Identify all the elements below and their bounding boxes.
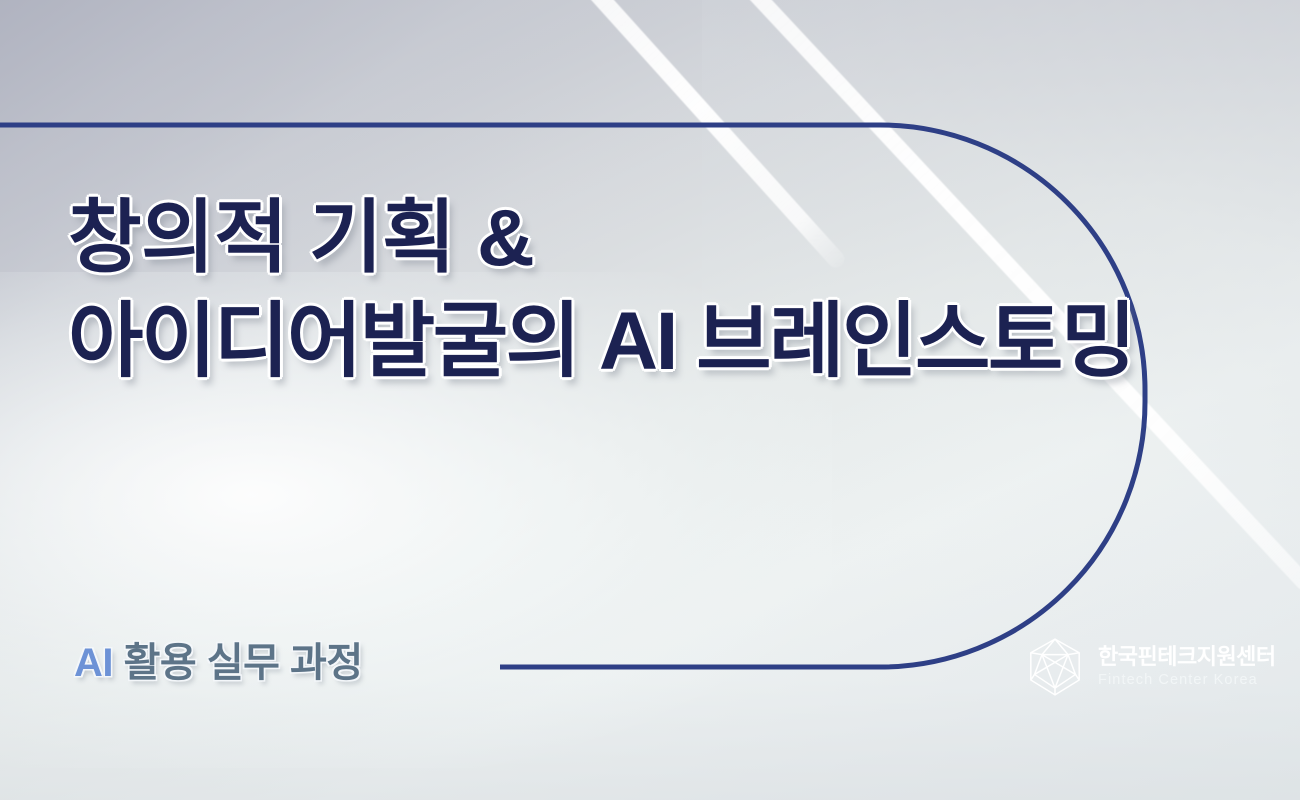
page-title: 창의적 기획 & 아이디어발굴의 AI 브레인스토밍 bbox=[68, 186, 1078, 394]
title-line-1: 창의적 기획 & bbox=[68, 186, 1078, 290]
organization-logo: 한국핀테크지원센터 Fintech Center Korea bbox=[1024, 636, 1276, 698]
subtitle-ai-label: AI bbox=[74, 641, 113, 685]
title-line-2: 아이디어발굴의 AI 브레인스토밍 bbox=[68, 290, 1078, 394]
logo-wordmark: 한국핀테크지원센터 Fintech Center Korea bbox=[1098, 646, 1276, 688]
subtitle-course-label: 활용 실무 과정 bbox=[113, 641, 363, 685]
title-slide: 창의적 기획 & 아이디어발굴의 AI 브레인스토밍 AI 활용 실무 과정 bbox=[0, 0, 1300, 800]
logo-english-name: Fintech Center Korea bbox=[1098, 673, 1276, 688]
logo-korean-name: 한국핀테크지원센터 bbox=[1098, 646, 1276, 668]
hexagon-facet-icon bbox=[1024, 636, 1086, 698]
subtitle: AI 활용 실무 과정 bbox=[74, 638, 363, 688]
